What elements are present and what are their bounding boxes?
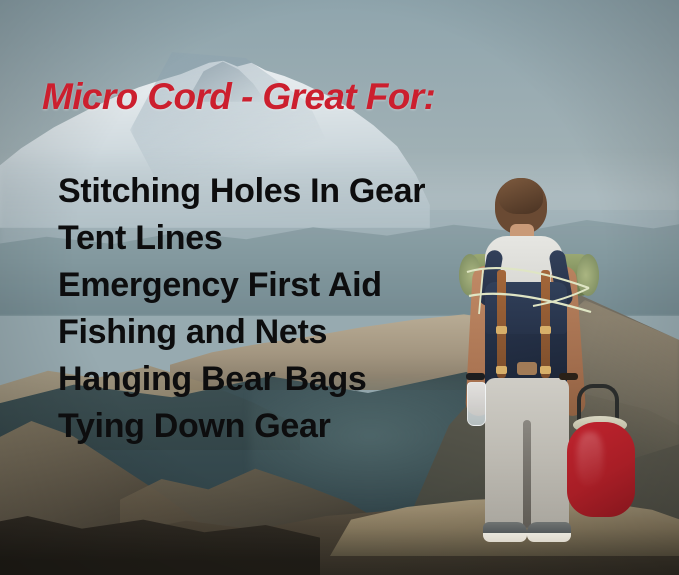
wristband-left xyxy=(466,373,485,380)
backpack-buckle xyxy=(540,366,551,374)
hair xyxy=(499,178,543,214)
feature-list: Stitching Holes In Gear Tent Lines Emerg… xyxy=(58,168,425,450)
list-item: Fishing and Nets xyxy=(58,309,425,356)
list-item: Tying Down Gear xyxy=(58,403,425,450)
backpack-logo-patch xyxy=(517,362,537,375)
backpack-buckle xyxy=(496,366,507,374)
backpack-leather-strap-left xyxy=(497,270,506,378)
list-item: Emergency First Aid xyxy=(58,262,425,309)
backpack-buckle xyxy=(540,326,551,334)
water-bottle xyxy=(467,382,486,426)
hiker-figure xyxy=(455,170,670,575)
list-item: Hanging Bear Bags xyxy=(58,356,425,403)
page-title: Micro Cord - Great For: xyxy=(42,76,435,118)
sleeping-mat-end-right xyxy=(577,254,599,296)
list-item: Tent Lines xyxy=(58,215,425,262)
backpack-leather-strap-right xyxy=(541,270,550,378)
pants-leg-gap xyxy=(523,420,531,528)
wristband-right xyxy=(559,373,578,380)
list-item: Stitching Holes In Gear xyxy=(58,168,425,215)
backpack-buckle xyxy=(496,326,507,334)
shoe-right xyxy=(527,522,571,542)
shoe-left xyxy=(483,522,527,542)
product-feature-poster: Micro Cord - Great For: Stitching Holes … xyxy=(0,0,679,575)
stuff-sack-highlight xyxy=(577,432,603,486)
